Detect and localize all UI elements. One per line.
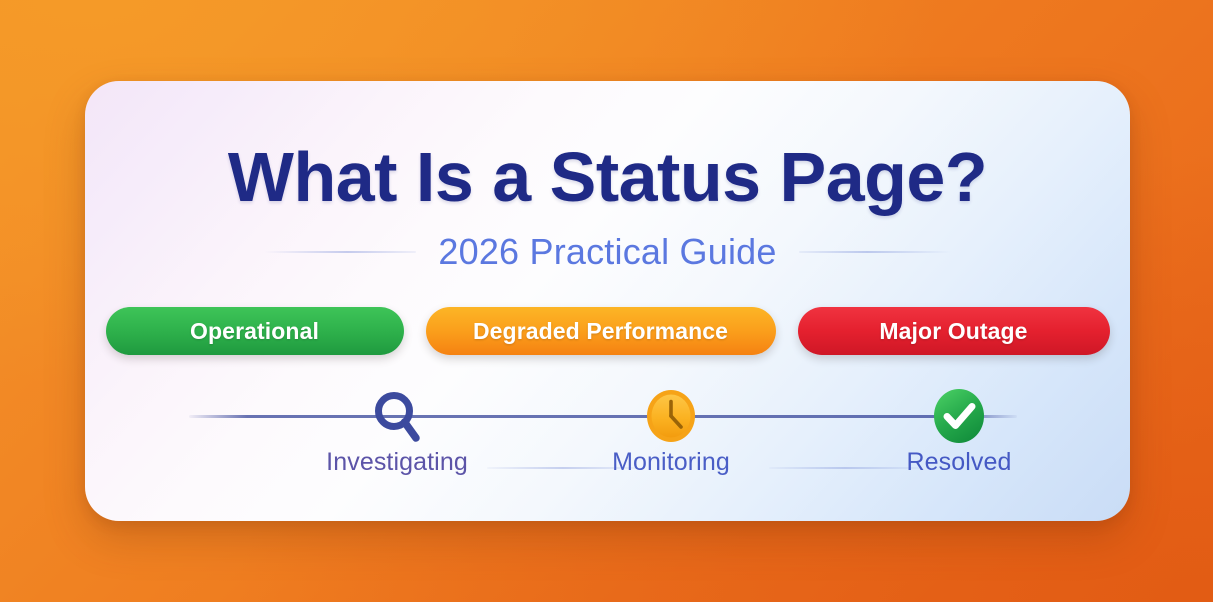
timeline-track [189,415,1017,418]
page-title: What Is a Status Page? [85,137,1130,217]
timeline-step-label-monitoring: Monitoring [612,448,730,477]
status-badge-group: Operational Degraded Performance Major O… [85,307,1130,355]
check-circle-icon [929,386,989,446]
timeline-step-resolved[interactable]: Resolved [899,386,1019,477]
status-badge-degraded-performance[interactable]: Degraded Performance [426,307,776,355]
timeline-step-monitoring[interactable]: Monitoring [611,386,731,477]
timeline-step-investigating[interactable]: Investigating [337,386,457,477]
status-badge-operational[interactable]: Operational [106,307,404,355]
incident-timeline: Investigating [189,386,1017,486]
subtitle-row: 2026 Practical Guide [85,231,1130,273]
magnifier-icon [367,386,427,446]
subtitle-rule-right [799,251,951,253]
status-badge-major-outage[interactable]: Major Outage [798,307,1110,355]
timeline-step-label-resolved: Resolved [906,448,1011,477]
timeline-step-label-investigating: Investigating [326,448,468,477]
subtitle-rule-left [264,251,416,253]
poster-background: What Is a Status Page? 2026 Practical Gu… [0,0,1213,602]
clock-icon [641,386,701,446]
page-subtitle: 2026 Practical Guide [438,231,776,273]
status-page-card: What Is a Status Page? 2026 Practical Gu… [85,81,1130,521]
